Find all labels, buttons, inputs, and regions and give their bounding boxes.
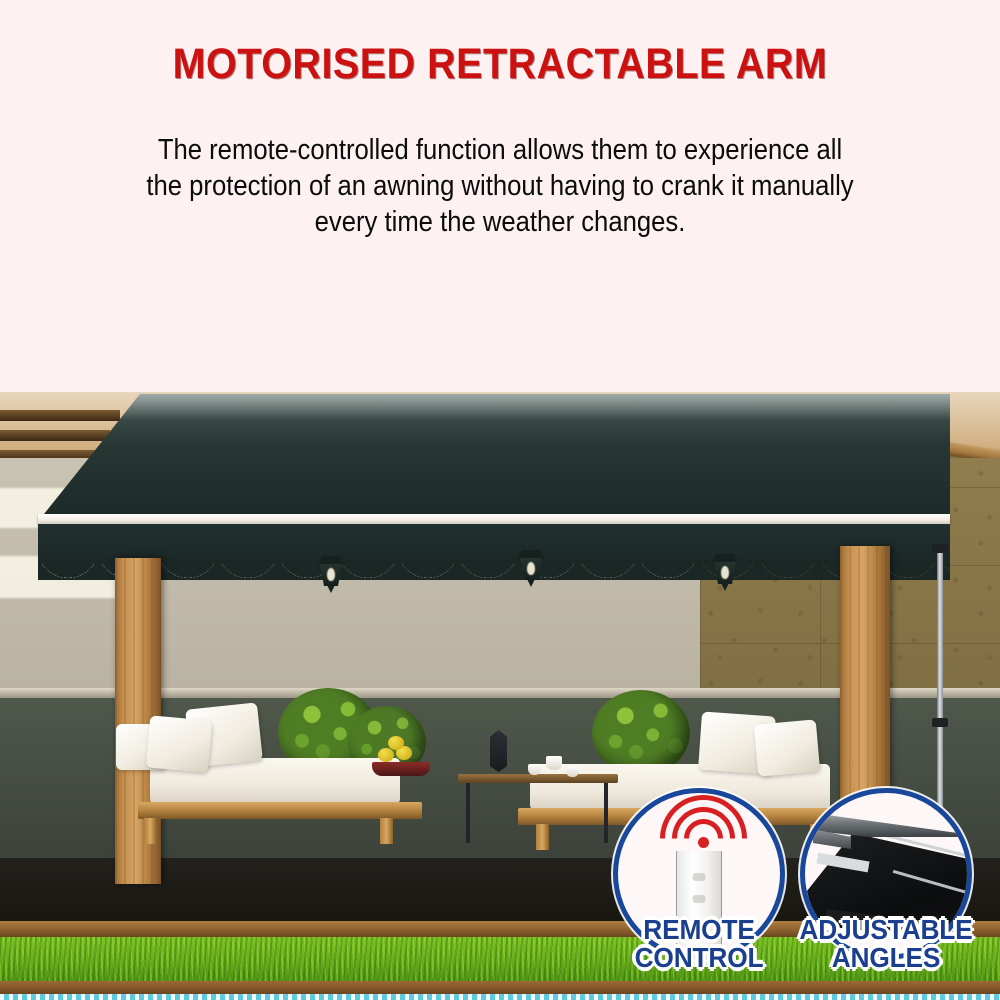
cassette-bar-icon: [815, 815, 972, 837]
badge-label-line-1: REMOTE: [596, 916, 803, 944]
bowl-lemon: [388, 736, 404, 750]
header-description: The remote-controlled function allows th…: [95, 132, 905, 240]
description-line-3: every time the weather changes.: [95, 204, 905, 240]
daybed-leg: [380, 818, 393, 844]
lantern-hood: [318, 556, 344, 565]
feature-badge-adjustable-angles[interactable]: ADJUSTABLE ANGLES: [800, 788, 1000, 1000]
tea-cup: [566, 766, 579, 777]
wall-lantern: [712, 554, 738, 594]
daybed-pillow: [754, 719, 820, 776]
tea-cup: [528, 764, 541, 775]
lantern-foot: [327, 585, 335, 593]
description-line-2: the protection of an awning without havi…: [95, 168, 905, 204]
daybed-pillow: [146, 715, 212, 772]
pergola-beam-left: [0, 410, 120, 421]
lantern-foot: [527, 579, 535, 587]
awning-valance: [38, 524, 950, 564]
badge-label-line-2: CONTROL: [596, 944, 803, 972]
pole-joint-top: [932, 544, 948, 553]
wall-lantern: [318, 556, 344, 596]
badge-label-remote-control: REMOTE CONTROL: [596, 916, 803, 972]
lantern-hood: [712, 554, 738, 563]
lantern-glow: [721, 566, 729, 579]
page-title: MOTORISED RETRACTABLE ARM: [40, 40, 960, 89]
awning-canopy: [40, 394, 950, 519]
lantern-hood: [518, 550, 544, 559]
pergola-beam-left: [0, 430, 110, 441]
description-line-1: The remote-controlled function allows th…: [95, 132, 905, 168]
daybed-leg: [144, 818, 157, 844]
badge-label-line-2: ANGLES: [783, 944, 990, 972]
header-banner: MOTORISED RETRACTABLE ARM The remote-con…: [0, 0, 1000, 392]
decorative-lantern: [490, 730, 507, 772]
lantern-foot: [721, 583, 729, 591]
lantern-glow: [327, 568, 335, 581]
canopy-highlight: [40, 394, 950, 420]
awning-scalloped-edge: [38, 560, 950, 580]
table-leg: [604, 783, 608, 843]
tea-pot: [546, 756, 562, 770]
wall-lantern: [518, 550, 544, 590]
badge-label-adjustable-angles: ADJUSTABLE ANGLES: [783, 916, 990, 972]
badge-label-line-1: ADJUSTABLE: [783, 916, 990, 944]
bowl-lemon: [378, 748, 394, 762]
remote-button: [693, 895, 706, 903]
table-top: [458, 774, 618, 783]
pole-joint-bottom: [932, 718, 948, 727]
lantern-glow: [527, 562, 535, 575]
coffee-table: [458, 774, 618, 844]
table-leg: [466, 783, 470, 843]
daybed-frame: [138, 802, 422, 819]
fruit-bowl: [372, 762, 430, 776]
